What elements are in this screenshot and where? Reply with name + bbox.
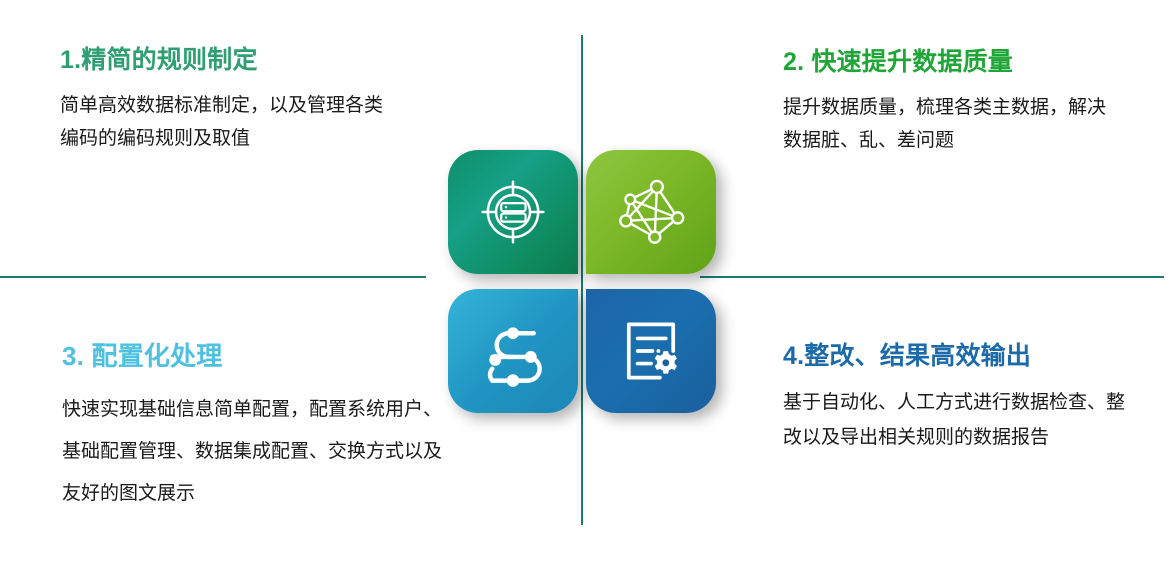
infographic-canvas: 1.精简的规则制定 简单高效数据标准制定，以及管理各类编码的编码规则及取值 2.… xyxy=(0,0,1169,569)
node-path-icon xyxy=(476,314,550,388)
quadrant-2: 2. 快速提升数据质量 提升数据质量，梳理各类主数据，解决数据脏、乱、差问题 xyxy=(783,42,1113,157)
tile-rule-definition[interactable] xyxy=(448,150,578,274)
quadrant-1-body: 简单高效数据标准制定，以及管理各类编码的编码规则及取值 xyxy=(60,89,400,155)
quadrant-1: 1.精简的规则制定 简单高效数据标准制定，以及管理各类编码的编码规则及取值 xyxy=(60,40,400,155)
quadrant-3: 3. 配置化处理 快速实现基础信息简单配置，配置系统用户、基础配置管理、数据集成… xyxy=(62,336,442,515)
quadrant-1-title: 1.精简的规则制定 xyxy=(60,40,400,76)
network-graph-icon xyxy=(614,175,688,249)
document-gear-icon xyxy=(614,314,688,388)
horizontal-divider-right xyxy=(700,276,1164,278)
quadrant-3-title: 3. 配置化处理 xyxy=(62,336,442,373)
quadrant-2-body: 提升数据质量，梳理各类主数据，解决数据脏、乱、差问题 xyxy=(783,91,1113,157)
target-database-icon xyxy=(476,175,550,249)
quadrant-2-title: 2. 快速提升数据质量 xyxy=(783,42,1113,78)
quadrant-4: 4.整改、结果高效输出 基于自动化、人工方式进行数据检查、整改以及导出相关规则的… xyxy=(783,336,1143,455)
quadrant-4-title: 4.整改、结果高效输出 xyxy=(783,336,1143,372)
horizontal-divider-left xyxy=(0,276,426,278)
tile-configuration[interactable] xyxy=(448,289,578,413)
tile-output-report[interactable] xyxy=(586,289,716,413)
quadrant-4-body: 基于自动化、人工方式进行数据检查、整改以及导出相关规则的数据报告 xyxy=(783,385,1143,455)
tile-data-quality[interactable] xyxy=(586,150,716,274)
quadrant-3-body: 快速实现基础信息简单配置，配置系统用户、基础配置管理、数据集成配置、交换方式以及… xyxy=(62,389,442,515)
center-tile-cluster xyxy=(448,150,716,413)
